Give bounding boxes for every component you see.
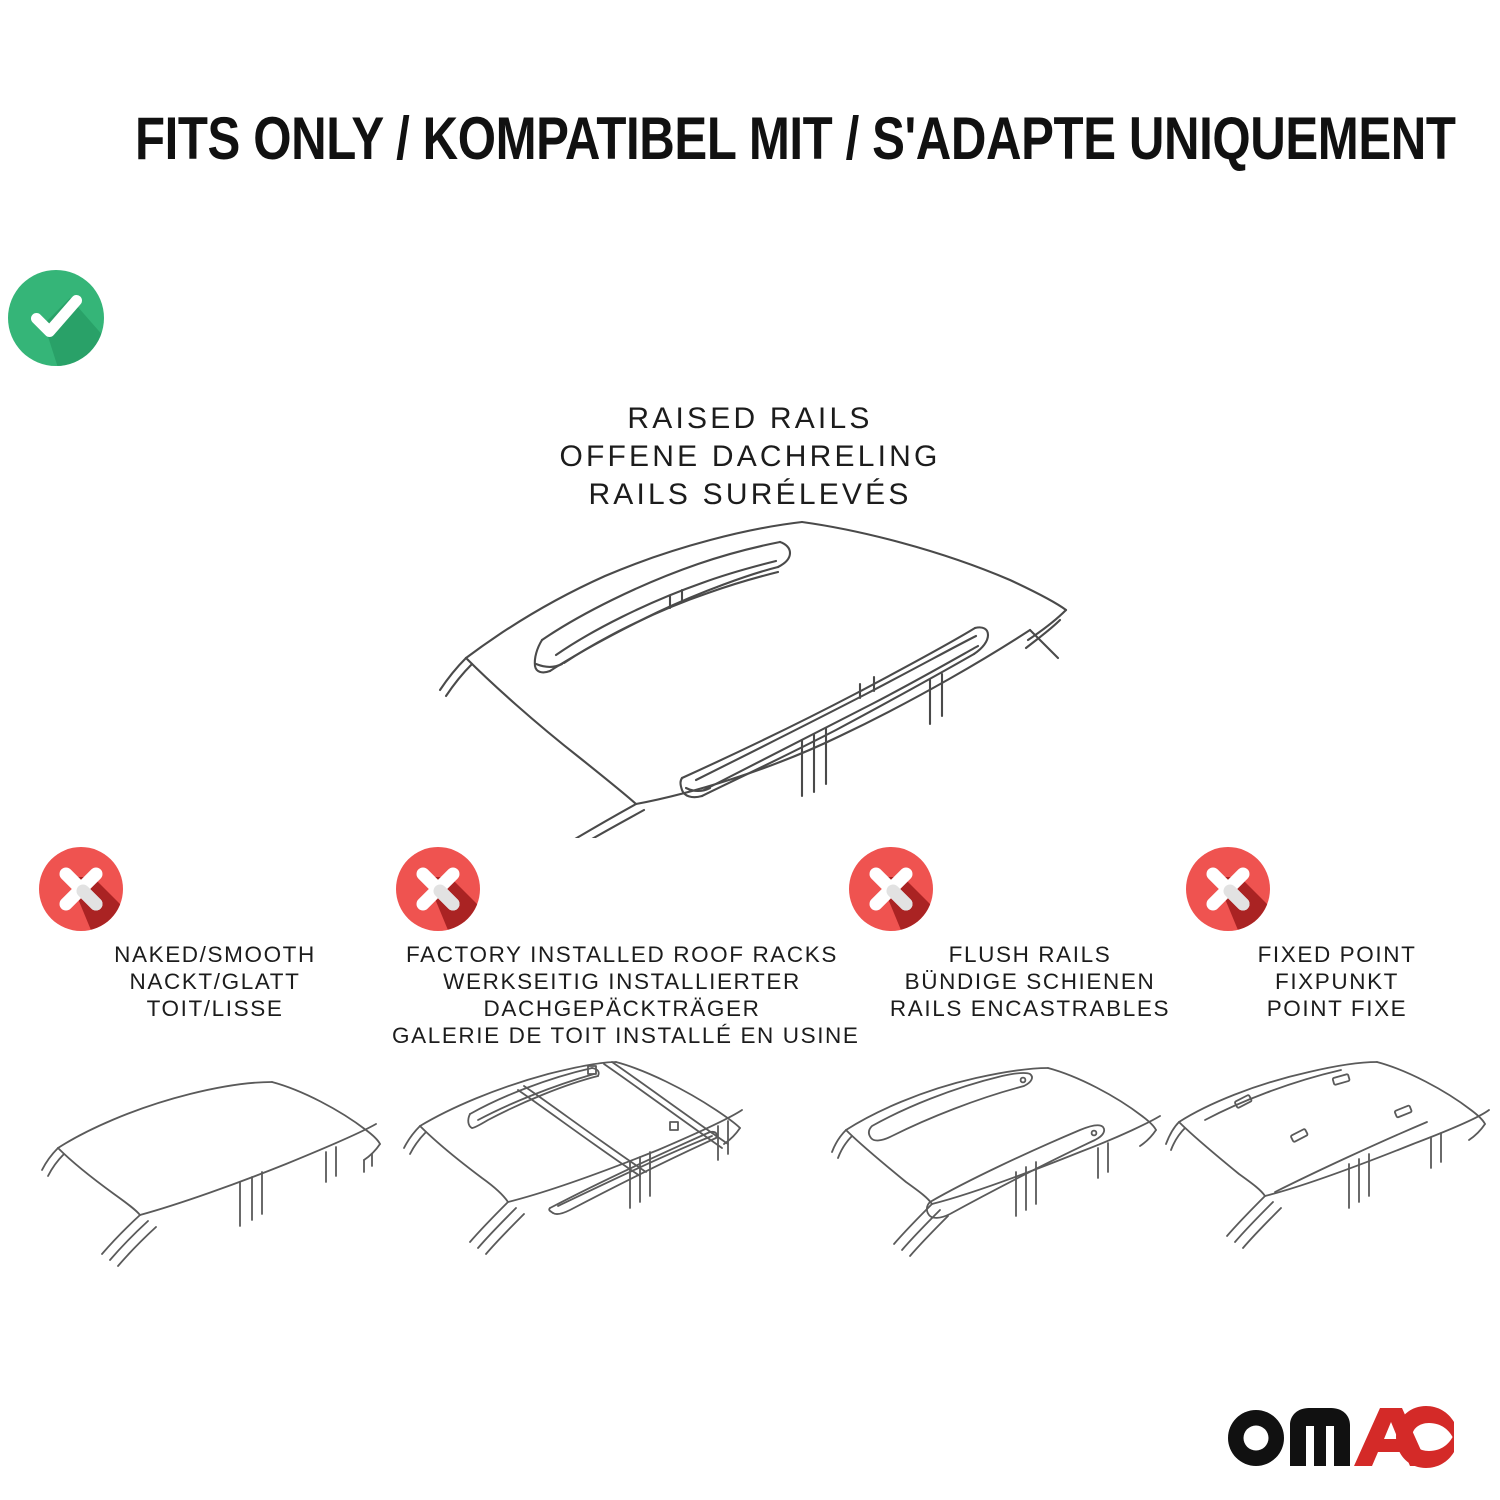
incompatible-item-flush-rails: FLUSH RAILS BÜNDIGE SCHIENEN RAILS ENCAS… [845, 843, 1215, 1022]
incompatible-label-en: FACTORY INSTALLED ROOF RACKS [392, 941, 852, 968]
x-circle-icon [35, 843, 395, 935]
compatible-labels: RAISED RAILS OFFENE DACHRELING RAILS SUR… [0, 400, 1500, 514]
incompatible-label-fr: RAILS ENCASTRABLES [845, 995, 1215, 1022]
page-title: FITS ONLY / KOMPATIBEL MIT / S'ADAPTE UN… [135, 104, 1365, 174]
incompatible-label-fr: GALERIE DE TOIT INSTALLÉ EN USINE [392, 1022, 852, 1049]
fitment-infographic: FITS ONLY / KOMPATIBEL MIT / S'ADAPTE UN… [0, 0, 1500, 1500]
car-roof-factory-racks-illustration [400, 1060, 765, 1300]
car-roof-raised-rails-illustration [430, 508, 1080, 838]
incompatible-section: NAKED/SMOOTH NACKT/GLATT TOIT/LISSE [0, 843, 1500, 1073]
incompatible-item-factory-roof-racks: FACTORY INSTALLED ROOF RACKS WERKSEITIG … [392, 843, 852, 1049]
incompatible-label-de-1: WERKSEITIG INSTALLIERTER [392, 968, 852, 995]
x-circle-icon [392, 843, 852, 935]
incompatible-item-naked-smooth: NAKED/SMOOTH NACKT/GLATT TOIT/LISSE [35, 843, 395, 1022]
incompatible-label-en: FIXED POINT [1182, 941, 1492, 968]
x-circle-icon [845, 843, 1215, 935]
incompatible-label-de: NACKT/GLATT [35, 968, 395, 995]
incompatible-labels: FIXED POINT FIXPUNKT POINT FIXE [1182, 941, 1492, 1022]
incompatible-label-en: FLUSH RAILS [845, 941, 1215, 968]
logo-letter-c [1396, 1406, 1454, 1468]
compatible-section: RAISED RAILS OFFENE DACHRELING RAILS SUR… [0, 262, 1500, 514]
incompatible-label-de: FIXPUNKT [1182, 968, 1492, 995]
incompatible-illustrations [0, 1060, 1500, 1300]
incompatible-labels: FACTORY INSTALLED ROOF RACKS WERKSEITIG … [392, 941, 852, 1049]
compatible-label-en: RAISED RAILS [0, 400, 1500, 438]
incompatible-label-en: NAKED/SMOOTH [35, 941, 395, 968]
incompatible-label-de-2: DACHGEPÄCKTRÄGER [392, 995, 852, 1022]
car-roof-flush-rails-illustration [830, 1060, 1180, 1300]
logo-letter-o [1228, 1410, 1284, 1466]
incompatible-label-fr: POINT FIXE [1182, 995, 1492, 1022]
car-roof-naked-smooth-illustration [40, 1060, 385, 1300]
incompatible-labels: FLUSH RAILS BÜNDIGE SCHIENEN RAILS ENCAS… [845, 941, 1215, 1022]
x-circle-icon [1182, 843, 1492, 935]
car-roof-fixed-point-illustration [1165, 1060, 1500, 1300]
incompatible-label-fr: TOIT/LISSE [35, 995, 395, 1022]
incompatible-labels: NAKED/SMOOTH NACKT/GLATT TOIT/LISSE [35, 941, 395, 1022]
incompatible-label-de: BÜNDIGE SCHIENEN [845, 968, 1215, 995]
incompatible-item-fixed-point: FIXED POINT FIXPUNKT POINT FIXE [1182, 843, 1492, 1022]
omac-logo [1222, 1400, 1454, 1470]
check-circle-icon [0, 262, 1500, 374]
logo-letter-m [1290, 1408, 1350, 1466]
compatible-label-de: OFFENE DACHRELING [0, 438, 1500, 476]
